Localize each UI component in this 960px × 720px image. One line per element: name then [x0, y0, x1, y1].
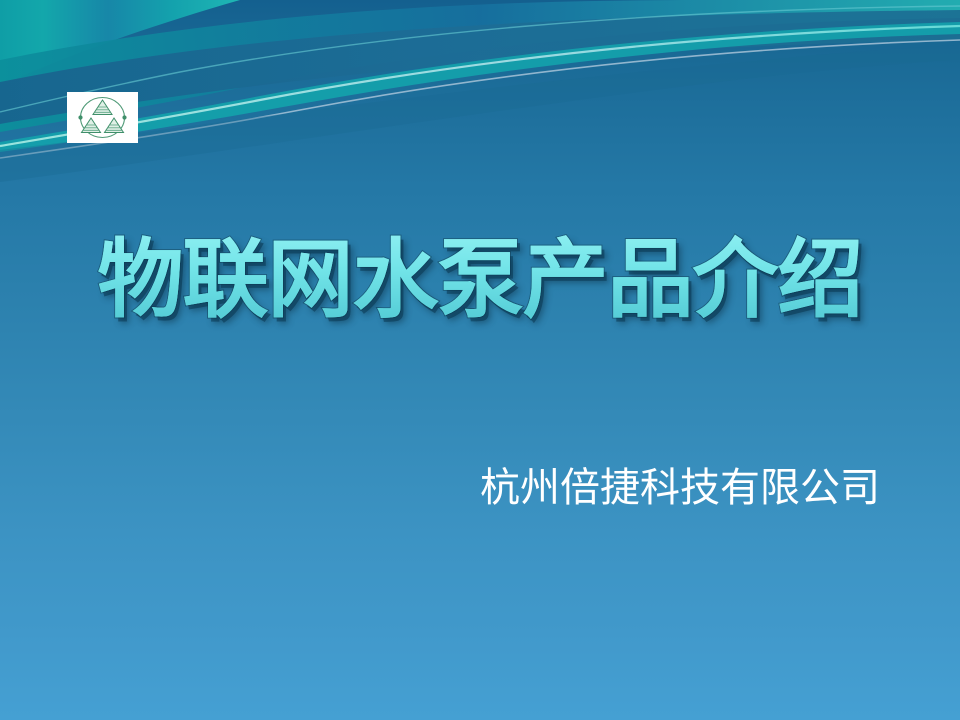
slide-subtitle: 杭州倍捷科技有限公司 [460, 462, 900, 514]
presentation-slide: 物联网水泵产品介绍 物联网水泵产品介绍 杭州倍捷科技有限公司 [0, 0, 960, 720]
pyramid-bottom-left [82, 118, 101, 133]
three-pyramids-in-circle-icon [67, 92, 138, 143]
pyramid-top [93, 100, 112, 115]
company-logo [67, 92, 138, 143]
pyramid-bottom-right [105, 118, 124, 133]
slide-title: 物联网水泵产品介绍 [0, 228, 960, 332]
wave-decoration [0, 0, 960, 220]
